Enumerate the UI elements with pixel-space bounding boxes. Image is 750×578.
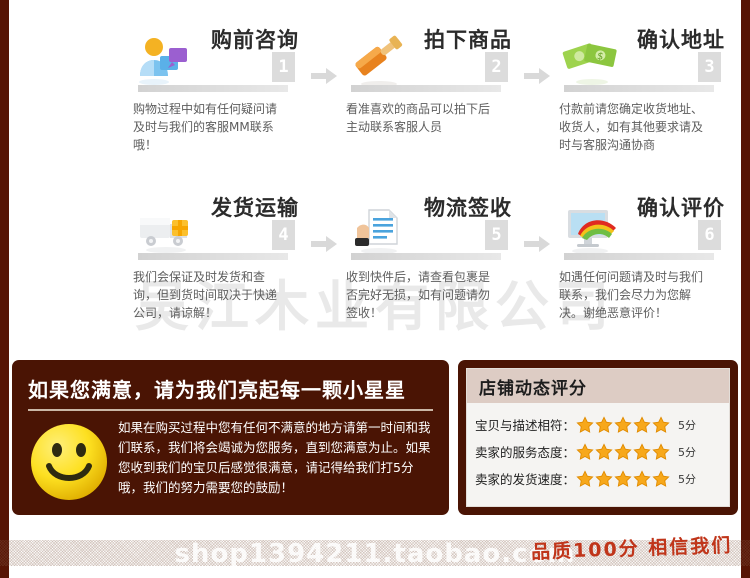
step-3-head: 确认地址 $ xyxy=(556,22,731,100)
left-edge-stripe xyxy=(0,0,9,578)
arrow-right-icon-1 xyxy=(305,16,343,84)
step-4: 发货运输 xyxy=(130,184,305,322)
arrow-right-icon-2 xyxy=(518,16,556,84)
step-1-number: 1 xyxy=(272,52,295,82)
step-5-rule xyxy=(351,253,501,260)
step-2-head: 拍下商品 2 xyxy=(343,22,518,100)
step-4-description: 我们会保证及时发货和查询，但到货时间取决于快递公司，请谅解！ xyxy=(130,268,282,322)
satisfaction-body: 如果在购买过程中您有任何不满意的地方请第一时间和我们联系，我们将会竭诚为您服务，… xyxy=(28,418,433,508)
step-6: 确认评价 6 xyxy=(556,184,731,322)
rating-header: 店铺动态评分 xyxy=(467,369,729,403)
steps-row-1: 购前咨询 1 购物 xyxy=(130,16,750,184)
rating-row: 卖家的发货速度： 5分 xyxy=(475,465,723,492)
step-4-number: 4 xyxy=(272,220,295,250)
step-1: 购前咨询 1 购物 xyxy=(130,16,305,154)
step-3: 确认地址 $ xyxy=(556,16,731,154)
rating-row: 卖家的服务态度： 5分 xyxy=(475,438,723,465)
promo-page: 吴江木业有限公司 购前咨询 xyxy=(0,0,750,578)
step-2: 拍下商品 2 xyxy=(343,16,518,136)
gavel-hammer-icon xyxy=(349,34,409,90)
rating-label: 宝贝与描述相符： xyxy=(475,415,575,434)
step-6-description: 如遇任何问题请及时与我们联系，我们会尽力为您解决。谢绝恶意评价！ xyxy=(556,268,708,322)
star-icon xyxy=(633,416,651,434)
star-rating xyxy=(576,470,670,488)
smiley-face-icon xyxy=(28,418,114,508)
star-rating xyxy=(576,443,670,461)
step-4-head: 发货运输 xyxy=(130,190,305,268)
steps-section: 购前咨询 1 购物 xyxy=(130,16,750,344)
steps-row-2: 发货运输 xyxy=(130,184,750,344)
satisfaction-divider xyxy=(28,409,433,411)
star-icon xyxy=(652,470,670,488)
footer: shop1394211.taobao.com 品质100分 相信我们 xyxy=(0,528,750,578)
person-chat-icon xyxy=(136,34,196,90)
star-icon xyxy=(576,470,594,488)
step-6-title: 确认评价 xyxy=(637,192,725,222)
star-icon xyxy=(614,416,632,434)
rating-inner: 店铺动态评分 宝贝与描述相符： 5分 xyxy=(466,368,730,507)
arrow-right-icon-3 xyxy=(305,184,343,252)
bottom-section: 如果您满意，请为我们亮起每一颗小星星 xyxy=(12,360,738,515)
rating-score: 5分 xyxy=(678,471,696,487)
satisfaction-box: 如果您满意，请为我们亮起每一颗小星星 xyxy=(12,360,449,515)
step-1-description: 购物过程中如有任何疑问请及时与我们的客服MM联系哦！ xyxy=(130,100,282,154)
star-icon xyxy=(652,443,670,461)
step-3-description: 付款前请您确定收货地址、收货人，如有其他要求请及时与客服沟通协商 xyxy=(556,100,708,154)
step-3-number: 3 xyxy=(698,52,721,82)
step-3-title: 确认地址 xyxy=(637,24,725,54)
money-cash-icon: $ xyxy=(562,34,622,90)
star-icon xyxy=(595,470,613,488)
monitor-rainbow-icon xyxy=(562,202,622,258)
step-5-head: 物流签收 5 xyxy=(343,190,518,268)
step-2-rule xyxy=(351,85,501,92)
step-5-description: 收到快件后，请查看包裹是否完好无损，如有问题请勿签收！ xyxy=(343,268,495,322)
rating-score: 5分 xyxy=(678,444,696,460)
step-1-rule xyxy=(138,85,288,92)
step-3-rule xyxy=(564,85,714,92)
star-icon xyxy=(576,416,594,434)
step-1-title: 购前咨询 xyxy=(211,24,299,54)
step-4-rule xyxy=(138,253,288,260)
star-rating xyxy=(576,416,670,434)
step-6-head: 确认评价 6 xyxy=(556,190,731,268)
star-icon xyxy=(614,443,632,461)
rating-box: 店铺动态评分 宝贝与描述相符： 5分 xyxy=(458,360,738,515)
step-5-title: 物流签收 xyxy=(424,192,512,222)
rating-label: 卖家的发货速度： xyxy=(475,469,575,488)
arrow-right-icon-4 xyxy=(518,184,556,252)
star-icon xyxy=(595,443,613,461)
step-1-head: 购前咨询 1 xyxy=(130,22,305,100)
satisfaction-text: 如果在购买过程中您有任何不满意的地方请第一时间和我们联系，我们将会竭诚为您服务，… xyxy=(114,418,433,508)
step-2-number: 2 xyxy=(485,52,508,82)
step-5: 物流签收 5 xyxy=(343,184,518,322)
star-icon xyxy=(595,416,613,434)
step-6-rule xyxy=(564,253,714,260)
step-2-title: 拍下商品 xyxy=(424,24,512,54)
step-6-number: 6 xyxy=(698,220,721,250)
rating-score: 5分 xyxy=(678,417,696,433)
step-2-description: 看准喜欢的商品可以拍下后主动联系客服人员 xyxy=(343,100,495,136)
rating-rows: 宝贝与描述相符： 5分 卖家的服务态度： xyxy=(467,403,729,492)
satisfaction-title: 如果您满意，请为我们亮起每一颗小星星 xyxy=(28,374,433,403)
step-5-number: 5 xyxy=(485,220,508,250)
star-icon xyxy=(652,416,670,434)
star-icon xyxy=(576,443,594,461)
star-icon xyxy=(614,470,632,488)
delivery-truck-icon xyxy=(136,202,196,258)
step-4-title: 发货运输 xyxy=(211,192,299,222)
hand-document-icon xyxy=(349,202,409,258)
rating-label: 卖家的服务态度： xyxy=(475,442,575,461)
star-icon xyxy=(633,470,651,488)
star-icon xyxy=(633,443,651,461)
rating-row: 宝贝与描述相符： 5分 xyxy=(475,411,723,438)
